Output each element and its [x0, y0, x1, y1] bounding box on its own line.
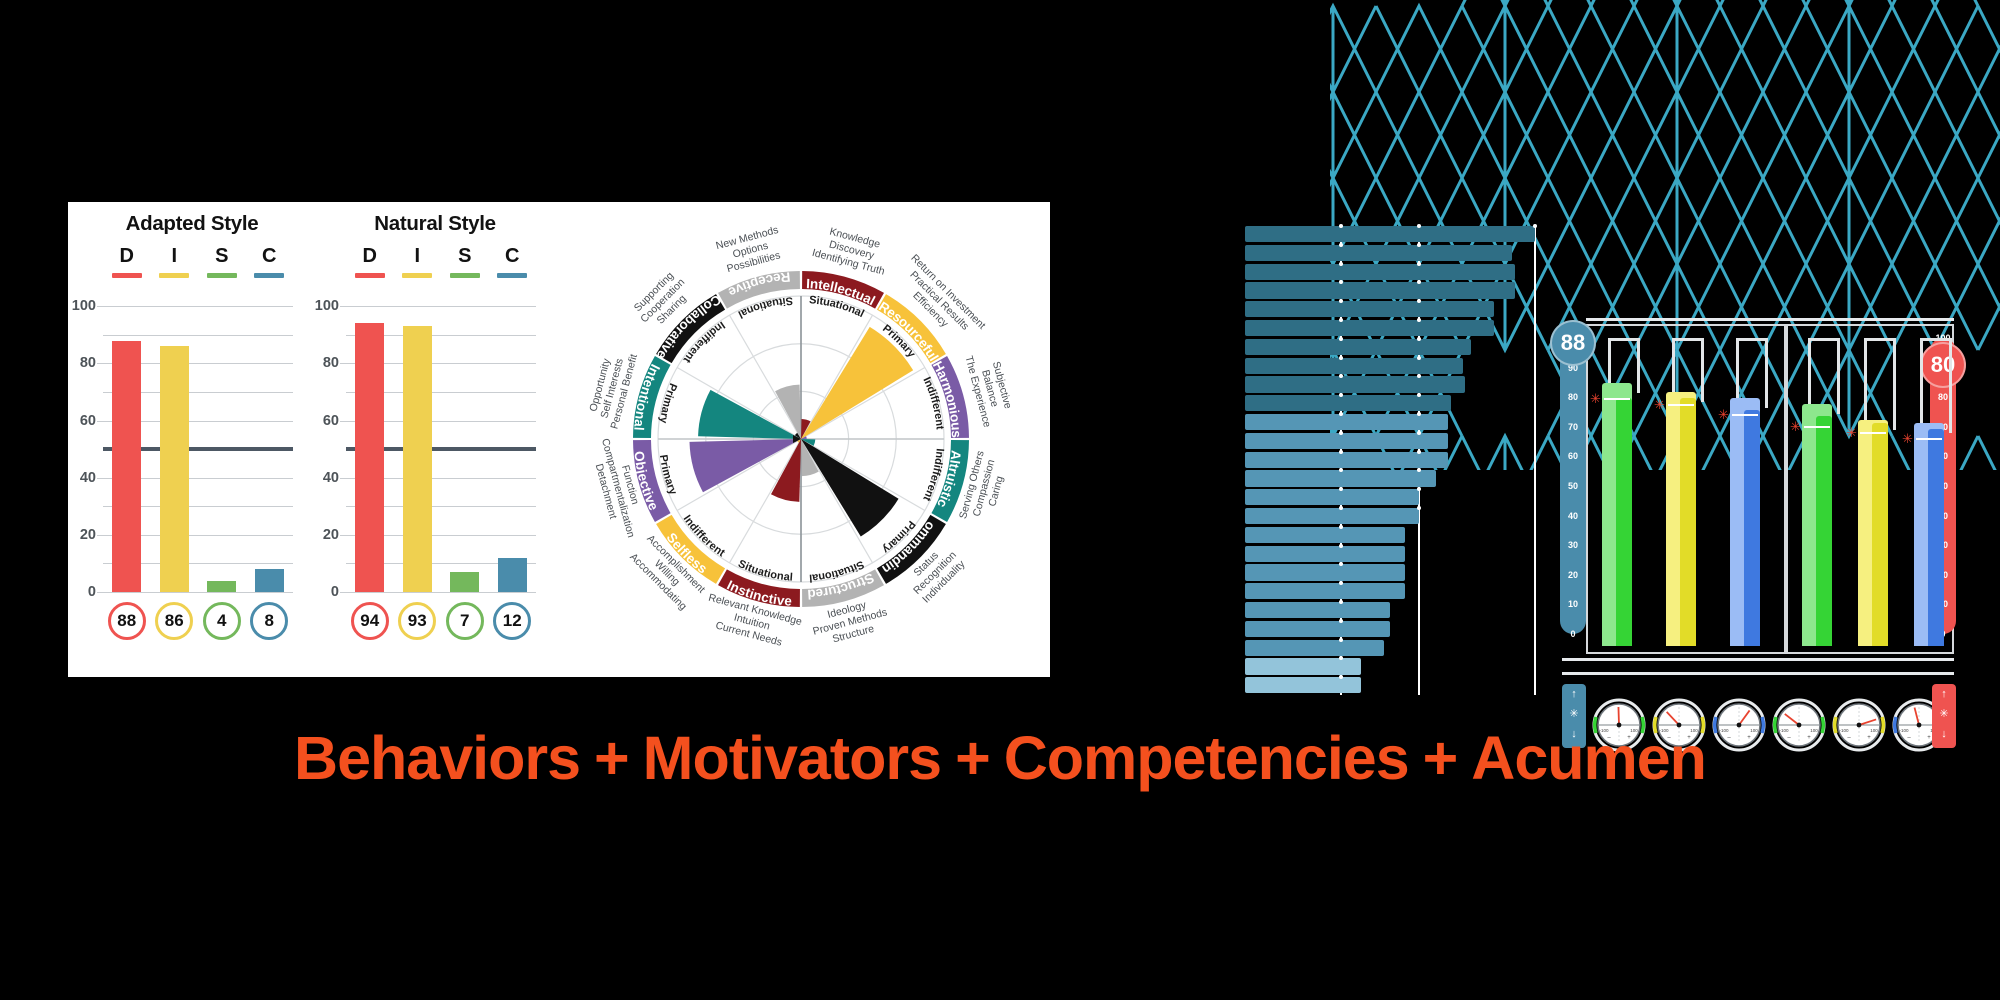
disc-legend: D I S C [103, 245, 293, 278]
legend-item-s: S [441, 245, 489, 278]
comp-bar [1245, 640, 1384, 656]
bar-i [160, 346, 189, 592]
comp-grid-dot [1339, 318, 1343, 322]
comp-grid-dot [1417, 356, 1421, 360]
comp-bar [1245, 320, 1494, 336]
plot-area: 020406080100 [103, 292, 293, 592]
comp-bar [1245, 339, 1471, 355]
y-axis-label: 60 [323, 413, 339, 429]
comp-grid-dot [1417, 243, 1421, 247]
comp-grid-dot [1417, 318, 1421, 322]
disc-chart-natural: Natural Style D I S C 020406080100 94937… [316, 202, 554, 677]
comp-grid-dot [1339, 487, 1343, 491]
comp-bar [1245, 282, 1515, 298]
score-circle-wrap: 88 [103, 602, 151, 640]
wheel-level-objective: Primary [657, 454, 679, 497]
acumen-scale-tick: 60 [1560, 451, 1586, 461]
acumen-marker-star: ✳ [1590, 392, 1601, 405]
comp-bar [1245, 301, 1494, 317]
comp-grid-dot [1339, 450, 1343, 454]
y-axis-label: 100 [72, 298, 96, 314]
bar-slot [103, 292, 151, 592]
legend-item-d: D [103, 245, 151, 278]
legend-swatch-i [402, 273, 432, 278]
headline-plus: + [1423, 724, 1458, 792]
comp-grid-dot [1339, 412, 1343, 416]
behaviors-disc-card: Adapted Style D I S C 020406080100 88864… [68, 202, 553, 677]
bar-slot [489, 292, 537, 592]
plot-area: 020406080100 [346, 292, 536, 592]
legend-swatch-s [450, 273, 480, 278]
score-circle-s: 7 [446, 602, 484, 640]
legend-label-i: I [394, 245, 442, 268]
acumen-scale-tick: 10 [1560, 599, 1586, 609]
acumen-bar-front-self-view-green-bar [1816, 416, 1832, 646]
comp-grid-dot [1417, 487, 1421, 491]
arrow-glyph: ✳ [1562, 704, 1586, 724]
acumen-left-scale: 1009080706050403020100 [1560, 338, 1586, 634]
y-axis-label: 60 [80, 413, 96, 429]
arrow-glyph: ✳ [1932, 704, 1956, 724]
acumen-marker-line [1668, 404, 1694, 406]
comp-grid-dot [1417, 262, 1421, 266]
comp-gridline [1534, 225, 1536, 695]
bar-group [103, 292, 293, 592]
acumen-scale-tick: 80 [1560, 392, 1586, 402]
wheel-level-intentional: Primary [657, 381, 679, 424]
y-axis-tick [97, 592, 103, 593]
score-circle-d: 88 [108, 602, 146, 640]
legend-label-d: D [346, 245, 394, 268]
comp-bar [1245, 658, 1361, 674]
competencies-bar-chart [1245, 225, 1535, 695]
score-circle-s: 4 [203, 602, 241, 640]
headline-plus: + [955, 724, 990, 792]
comp-bar [1245, 677, 1361, 693]
comp-grid-dot [1339, 581, 1343, 585]
comp-grid-dot [1417, 224, 1421, 228]
comp-bar [1245, 264, 1515, 280]
bar-d [112, 341, 141, 592]
score-circle-wrap: 8 [246, 602, 294, 640]
legend-label-i: I [151, 245, 199, 268]
legend-item-i: I [394, 245, 442, 278]
grid-line [346, 592, 536, 593]
comp-grid-dot [1339, 243, 1343, 247]
bar-d [355, 323, 384, 592]
score-circle-i: 93 [398, 602, 436, 640]
y-axis-label: 100 [315, 298, 339, 314]
acumen-marker-line [1604, 398, 1630, 400]
score-circle-c: 12 [493, 602, 531, 640]
acumen-capacity-box-self-view-1 [1864, 338, 1896, 430]
acumen-marker-star: ✳ [1846, 426, 1857, 439]
bar-s [450, 572, 479, 592]
acumen-marker-star: ✳ [1654, 398, 1665, 411]
legend-swatch-d [355, 273, 385, 278]
acumen-bar-front-self-view-blue-bar [1928, 429, 1944, 646]
acumen-marker-star: ✳ [1718, 408, 1729, 421]
comp-bar [1245, 546, 1405, 562]
comp-grid-dot [1339, 619, 1343, 623]
comp-bar [1245, 470, 1436, 486]
comp-grid-dot [1339, 544, 1343, 548]
legend-label-d: D [103, 245, 151, 268]
comp-bar [1245, 433, 1448, 449]
bar-slot [394, 292, 442, 592]
comp-grid-dot [1339, 431, 1343, 435]
chart-title: Adapted Style [73, 212, 311, 236]
comp-grid-dot [1339, 299, 1343, 303]
comp-grid-dot [1339, 675, 1343, 679]
acumen-divider-2 [1562, 672, 1954, 675]
acumen-marker-line [1916, 438, 1942, 440]
legend-label-c: C [489, 245, 537, 268]
bar-i [403, 326, 432, 592]
acumen-bar-front-world-view-yellow-bar [1680, 398, 1696, 646]
comp-bar [1245, 527, 1405, 543]
y-axis-label: 20 [80, 527, 96, 543]
comp-grid-dot [1417, 431, 1421, 435]
comp-grid-dot [1339, 337, 1343, 341]
acumen-divider-1 [1562, 658, 1954, 661]
acumen-marker-line [1732, 414, 1758, 416]
score-circle-c: 8 [250, 602, 288, 640]
comp-bar [1245, 452, 1448, 468]
acumen-scale-tick: 50 [1560, 481, 1586, 491]
legend-item-i: I [151, 245, 199, 278]
bar-slot [246, 292, 294, 592]
acumen-chart: 1009080706050403020100100908070605040302… [1558, 300, 1958, 690]
legend-swatch-d [112, 273, 142, 278]
arrow-glyph: ↑ [1562, 684, 1586, 704]
comp-grid-dot [1339, 224, 1343, 228]
y-axis-label: 0 [331, 584, 339, 600]
comp-bar [1245, 564, 1405, 580]
bar-group [346, 292, 536, 592]
legend-label-c: C [246, 245, 294, 268]
chart-title: Natural Style [316, 212, 554, 236]
comp-bar [1245, 489, 1419, 505]
y-axis-label: 40 [323, 470, 339, 486]
acumen-marker-star: ✳ [1790, 420, 1801, 433]
acumen-scale-tick: 0 [1560, 629, 1586, 639]
acumen-left-score-badge: 88 [1550, 320, 1596, 366]
score-circle-d: 94 [351, 602, 389, 640]
acumen-capacity-box-self-view-0 [1808, 338, 1840, 414]
y-axis-label: 40 [80, 470, 96, 486]
legend-label-s: S [198, 245, 246, 268]
acumen-bar-front-self-view-yellow-bar [1872, 423, 1888, 646]
bar-slot [441, 292, 489, 592]
acumen-scale-tick: 40 [1560, 511, 1586, 521]
score-circle-row: 9493712 [346, 602, 536, 640]
acumen-top-rail [1586, 318, 1954, 321]
headline-item-motivators: Motivators [643, 724, 941, 792]
y-axis-label: 80 [323, 355, 339, 371]
bar-slot [151, 292, 199, 592]
y-axis-label: 80 [80, 355, 96, 371]
comp-grid-dot [1417, 506, 1421, 510]
bar-slot [198, 292, 246, 592]
legend-swatch-i [159, 273, 189, 278]
comp-grid-dot [1533, 224, 1537, 228]
score-circle-row: 888648 [103, 602, 293, 640]
grid-line [103, 592, 293, 593]
comp-grid-dot [1339, 600, 1343, 604]
comp-grid-dot [1417, 337, 1421, 341]
comp-bar [1245, 583, 1405, 599]
legend-swatch-s [207, 273, 237, 278]
acumen-bar-front-world-view-blue-bar [1744, 410, 1760, 646]
disc-chart-adapted: Adapted Style D I S C 020406080100 88864… [73, 202, 311, 677]
acumen-marker-line [1804, 426, 1830, 428]
comp-bar [1245, 245, 1512, 261]
score-circle-i: 86 [155, 602, 193, 640]
headline-item-behaviors: Behaviors [294, 724, 580, 792]
comp-grid-dot [1339, 506, 1343, 510]
motivators-wheel: IntellectualSituationalIdentifying Truth… [553, 202, 1050, 677]
y-axis-label: 20 [323, 527, 339, 543]
comp-grid-dot [1339, 356, 1343, 360]
comp-grid-dot [1339, 525, 1343, 529]
acumen-scale-tick: 20 [1560, 570, 1586, 580]
headline-item-acumen: Acumen [1471, 724, 1706, 792]
legend-item-c: C [246, 245, 294, 278]
acumen-bar-front-world-view-green-bar [1616, 398, 1632, 646]
comp-bar [1245, 226, 1535, 242]
comp-bar [1245, 358, 1463, 374]
legend-item-s: S [198, 245, 246, 278]
acumen-capacity-box-self-view-2 [1920, 338, 1952, 433]
score-circle-wrap: 4 [198, 602, 246, 640]
headline-item-competencies: Competencies [1004, 724, 1409, 792]
comp-grid-dot [1339, 262, 1343, 266]
comp-bar [1245, 621, 1390, 637]
bar-s [207, 581, 236, 592]
score-circle-wrap: 93 [394, 602, 442, 640]
score-circle-wrap: 12 [489, 602, 537, 640]
legend-item-d: D [346, 245, 394, 278]
motivators-wheel-card: IntellectualSituationalIdentifying Truth… [553, 202, 1050, 677]
comp-bar [1245, 414, 1448, 430]
bar-c [498, 558, 527, 592]
headline-plus: + [594, 724, 629, 792]
comp-bar [1245, 508, 1419, 524]
page-title: Behaviors+Motivators+Competencies+Acumen [0, 723, 2000, 793]
comp-bar [1245, 602, 1390, 618]
comp-grid-dot [1417, 450, 1421, 454]
legend-label-s: S [441, 245, 489, 268]
y-axis-tick [340, 592, 346, 593]
comp-grid-dot [1339, 638, 1343, 642]
score-circle-wrap: 7 [441, 602, 489, 640]
score-circle-wrap: 94 [346, 602, 394, 640]
legend-swatch-c [497, 273, 527, 278]
acumen-scale-tick: 70 [1560, 422, 1586, 432]
arrow-glyph: ↑ [1932, 684, 1956, 704]
acumen-scale-tick: 30 [1560, 540, 1586, 550]
legend-item-c: C [489, 245, 537, 278]
y-axis-label: 0 [88, 584, 96, 600]
wheel-wedge-commanding [801, 439, 899, 537]
acumen-marker-star: ✳ [1902, 432, 1913, 445]
comp-grid-dot [1339, 393, 1343, 397]
acumen-marker-line [1860, 432, 1886, 434]
comp-bar [1245, 395, 1451, 411]
legend-swatch-c [254, 273, 284, 278]
comp-grid-dot [1417, 412, 1421, 416]
disc-legend: D I S C [346, 245, 536, 278]
score-circle-wrap: 86 [151, 602, 199, 640]
bar-c [255, 569, 284, 592]
bar-slot [346, 292, 394, 592]
comp-bar [1245, 376, 1465, 392]
